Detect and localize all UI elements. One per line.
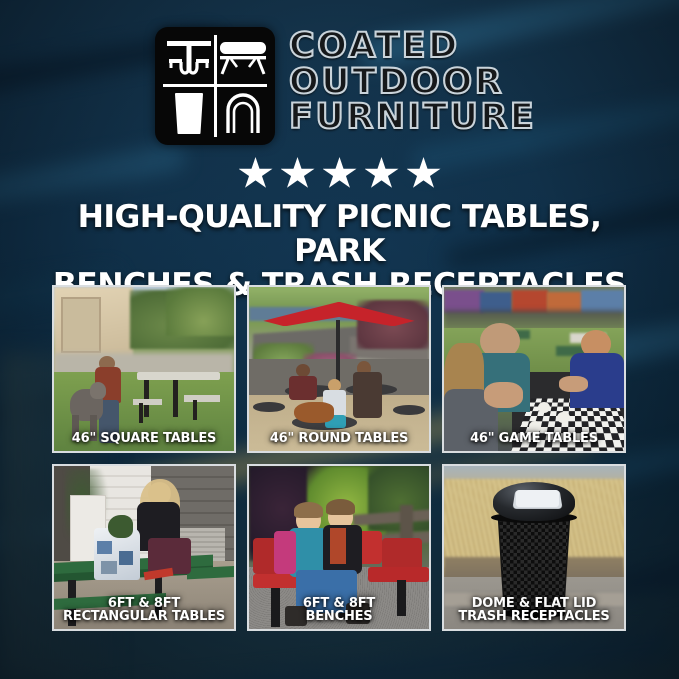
tile-caption: 46" ROUND TABLES [249, 432, 429, 446]
product-tile-grid: 46" SQUARE TABLES [52, 285, 627, 631]
brand-wordmark: COATED OUTDOOR FURNITURE [289, 27, 536, 135]
product-tile-game-tables[interactable]: 46" GAME TABLES [442, 285, 626, 453]
product-photo [249, 287, 429, 451]
star-icon [365, 157, 399, 190]
product-photo [54, 287, 234, 451]
tile-caption-line-1: 46" GAME TABLES [470, 431, 598, 446]
product-tile-square-tables[interactable]: 46" SQUARE TABLES [52, 285, 236, 453]
star-rating [0, 157, 679, 190]
bike-rack-icon [217, 88, 269, 138]
product-tile-trash-receptacles[interactable]: DOME & FLAT LID TRASH RECEPTACLES [442, 464, 626, 631]
star-icon [239, 157, 273, 190]
tile-caption-line-1: 46" ROUND TABLES [270, 431, 408, 446]
bench-icon [217, 34, 269, 84]
tile-caption-line-2: TRASH RECEPTACLES [444, 610, 624, 624]
brand-logo: COATED OUTDOOR FURNITURE [155, 27, 545, 149]
tile-caption-line-1: 46" SQUARE TABLES [72, 431, 216, 446]
tile-caption: 46" SQUARE TABLES [54, 432, 234, 446]
product-photo [444, 287, 624, 451]
product-tile-round-tables[interactable]: 46" ROUND TABLES [247, 285, 431, 453]
wordmark-line-2: OUTDOOR [289, 65, 536, 100]
logo-divider-horizontal [163, 84, 267, 87]
wordmark-line-1: COATED [289, 29, 536, 64]
wordmark-line-3: FURNITURE [289, 100, 536, 135]
picnic-table-icon [163, 34, 215, 84]
product-tile-rectangular-tables[interactable]: 6FT & 8FT RECTANGULAR TABLES [52, 464, 236, 631]
headline-line-1: HIGH-QUALITY PICNIC TABLES, PARK [78, 199, 602, 269]
tile-caption-line-2: RECTANGULAR TABLES [54, 610, 234, 624]
promo-banner: COATED OUTDOOR FURNITURE HIGH-QUALITY PI… [0, 0, 679, 679]
tile-caption: DOME & FLAT LID TRASH RECEPTACLES [444, 597, 624, 624]
logo-mark [155, 27, 275, 145]
tile-caption-line-2: BENCHES [249, 610, 429, 624]
trash-receptacle-icon [163, 88, 215, 138]
tile-caption: 6FT & 8FT RECTANGULAR TABLES [54, 597, 234, 624]
star-icon [281, 157, 315, 190]
tile-caption: 46" GAME TABLES [444, 432, 624, 446]
star-icon [323, 157, 357, 190]
tile-caption: 6FT & 8FT BENCHES [249, 597, 429, 624]
star-icon [407, 157, 441, 190]
product-tile-benches[interactable]: 6FT & 8FT BENCHES [247, 464, 431, 631]
